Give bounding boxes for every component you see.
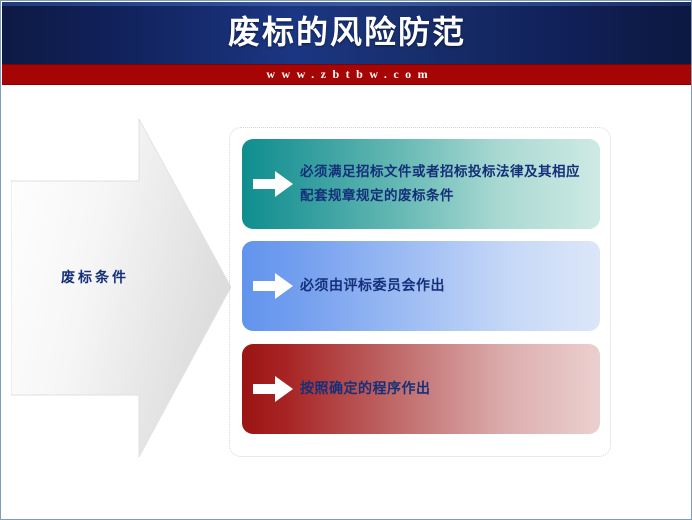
condition-row-3[interactable]: 按照确定的程序作出 bbox=[242, 344, 600, 434]
right-arrow-pentagon-icon bbox=[11, 119, 231, 457]
page-title: 废标的风险防范 bbox=[1, 2, 692, 64]
conditions-panel: 必须满足招标文件或者招标投标法律及其相应配套规章规定的废标条件 必须由评标委员会… bbox=[229, 127, 611, 457]
condition-row-2[interactable]: 必须由评标委员会作出 bbox=[242, 241, 600, 331]
white-right-arrow-icon bbox=[253, 376, 293, 402]
condition-row-3-text: 按照确定的程序作出 bbox=[300, 377, 590, 401]
white-right-arrow-icon bbox=[253, 171, 293, 197]
big-arrow-label: 废标条件 bbox=[11, 267, 179, 287]
site-url-label: www.zbtbw.com bbox=[1, 64, 692, 85]
condition-row-1[interactable]: 必须满足招标文件或者招标投标法律及其相应配套规章规定的废标条件 bbox=[242, 139, 600, 229]
big-arrow-shape: 废标条件 bbox=[11, 119, 231, 457]
condition-row-2-text: 必须由评标委员会作出 bbox=[300, 274, 590, 298]
condition-row-1-text: 必须满足招标文件或者招标投标法律及其相应配套规章规定的废标条件 bbox=[300, 160, 590, 208]
slide-canvas: 废标的风险防范 www.zbtbw.com 废标条件 bbox=[0, 0, 692, 520]
white-right-arrow-icon bbox=[253, 273, 293, 299]
